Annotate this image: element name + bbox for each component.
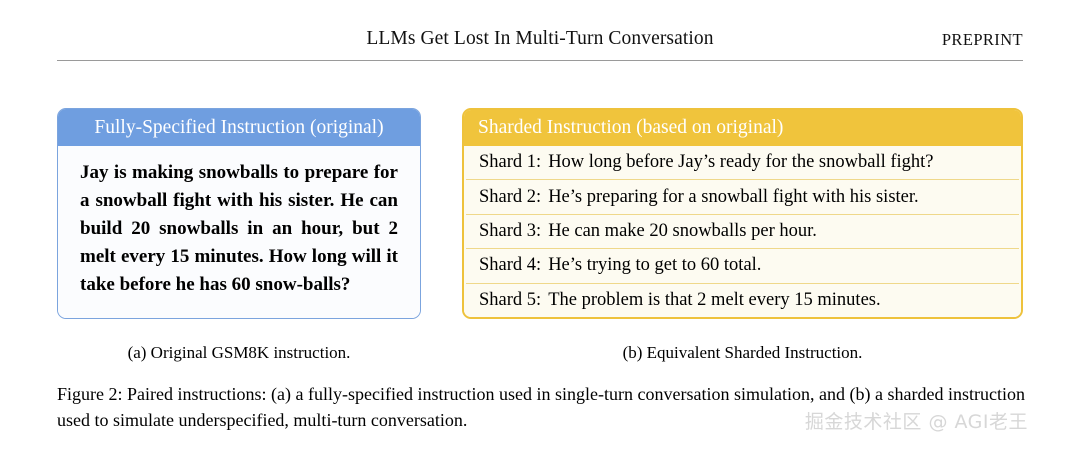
shard-text: How long before Jay’s ready for the snow… xyxy=(548,152,933,173)
shard-text: He can make 20 snowballs per hour. xyxy=(548,221,817,242)
shard-text: He’s trying to get to 60 total. xyxy=(548,255,761,276)
subcaption-b: (b) Equivalent Sharded Instruction. xyxy=(462,343,1023,363)
fully-specified-card-body: Jay is making snowballs to prepare for a… xyxy=(58,146,420,318)
fully-specified-card-header: Fully-Specified Instruction (original) xyxy=(58,109,420,146)
shard-row: Shard 3: He can make 20 snowballs per ho… xyxy=(466,215,1019,249)
shard-label: Shard 3: xyxy=(479,221,548,242)
sharded-instruction-card: Sharded Instruction (based on original) … xyxy=(462,108,1023,319)
sharded-card-body: Shard 1: How long before Jay’s ready for… xyxy=(464,146,1021,317)
shard-label: Shard 5: xyxy=(479,290,548,311)
sharded-card-header: Sharded Instruction (based on original) xyxy=(464,110,1021,146)
fully-specified-instruction-card: Fully-Specified Instruction (original) J… xyxy=(57,108,421,319)
shard-label: Shard 2: xyxy=(479,187,548,208)
figure-2: Fully-Specified Instruction (original) J… xyxy=(0,0,1080,457)
shard-row: Shard 1: How long before Jay’s ready for… xyxy=(466,146,1019,180)
subcaption-a: (a) Original GSM8K instruction. xyxy=(57,343,421,363)
original-instruction-text: Jay is making snowballs to prepare for a… xyxy=(80,159,398,299)
shard-row: Shard 4: He’s trying to get to 60 total. xyxy=(466,249,1019,283)
shard-row: Shard 5: The problem is that 2 melt ever… xyxy=(466,284,1019,317)
watermark: 掘金技术社区 @ AGI老王 xyxy=(805,407,1028,434)
shard-label: Shard 4: xyxy=(479,255,548,276)
shard-text: The problem is that 2 melt every 15 minu… xyxy=(548,290,880,311)
shard-row: Shard 2: He’s preparing for a snowball f… xyxy=(466,180,1019,214)
shard-label: Shard 1: xyxy=(479,152,548,173)
shard-text: He’s preparing for a snowball fight with… xyxy=(548,187,918,208)
